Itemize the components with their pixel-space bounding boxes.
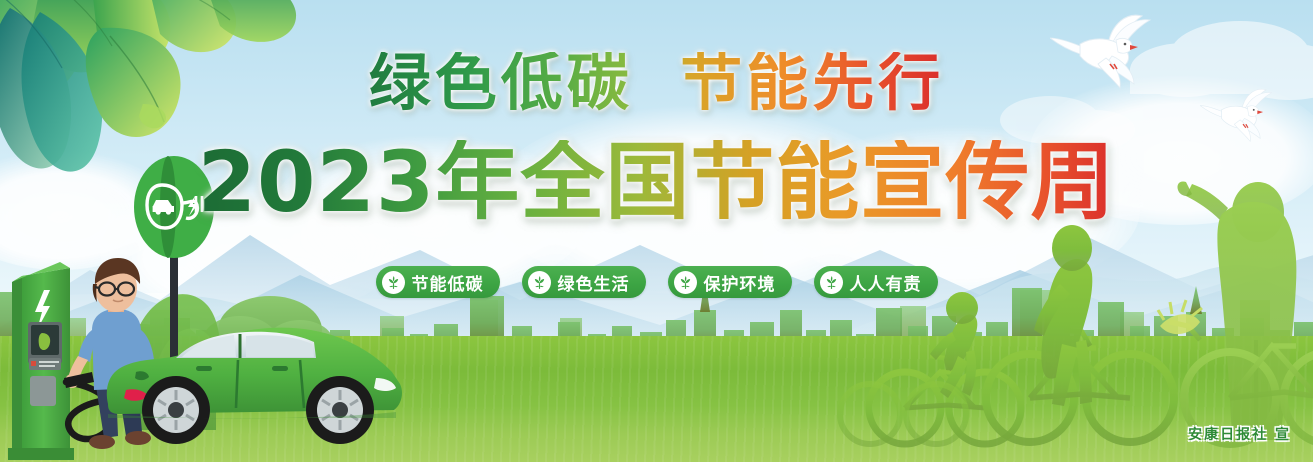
car-door-handle-2 [272, 366, 288, 371]
sprout-leaf-icon [674, 271, 697, 294]
sprout-leaf-icon [528, 271, 551, 294]
slogan-badge-1[interactable]: 节能低碳 [376, 266, 500, 298]
man-shoe-right [125, 431, 151, 445]
headline-line-1-wrap: 绿色低碳 节能先行 [0, 52, 1313, 114]
station-side [12, 276, 22, 455]
slogan-badge-4[interactable]: 人人有责 [814, 266, 938, 298]
slogan-badge-2[interactable]: 绿色生活 [522, 266, 646, 298]
car-door-handle [196, 366, 212, 371]
headline-line-1: 绿色低碳 节能先行 [363, 52, 951, 114]
slogan-badge-3[interactable]: 保护环境 [668, 266, 792, 298]
station-base [8, 448, 74, 460]
energy-conservation-week-banner: 绿色低碳 节能先行 2023年全国节能宣传周 [0, 0, 1313, 462]
publisher-credit: 安康日报社 宣 [1188, 424, 1291, 444]
slogan-badge-4-label: 人人有责 [850, 270, 922, 295]
station-nozzle-holder [30, 376, 56, 406]
sprout-leaf-icon [382, 271, 405, 294]
headline-line-2: 2023年全国节能宣传周 [192, 140, 1122, 224]
headline-line-2-wrap: 2023年全国节能宣传周 [0, 140, 1313, 224]
sprout-leaf-icon [820, 271, 843, 294]
keypad-line [39, 361, 59, 363]
man-shoe-left [89, 435, 115, 449]
slogan-badge-3-label: 保护环境 [704, 270, 776, 295]
keypad-line [39, 365, 55, 367]
slogan-badge-1-label: 节能低碳 [412, 270, 484, 295]
slogan-badge-2-label: 绿色生活 [558, 270, 630, 295]
car-wheel-front-hub [332, 402, 348, 418]
car-wheel-rear-hub [168, 402, 184, 418]
slogan-badge-row: 节能低碳 绿色生活 [0, 266, 1313, 298]
keypad-dot [31, 361, 36, 366]
